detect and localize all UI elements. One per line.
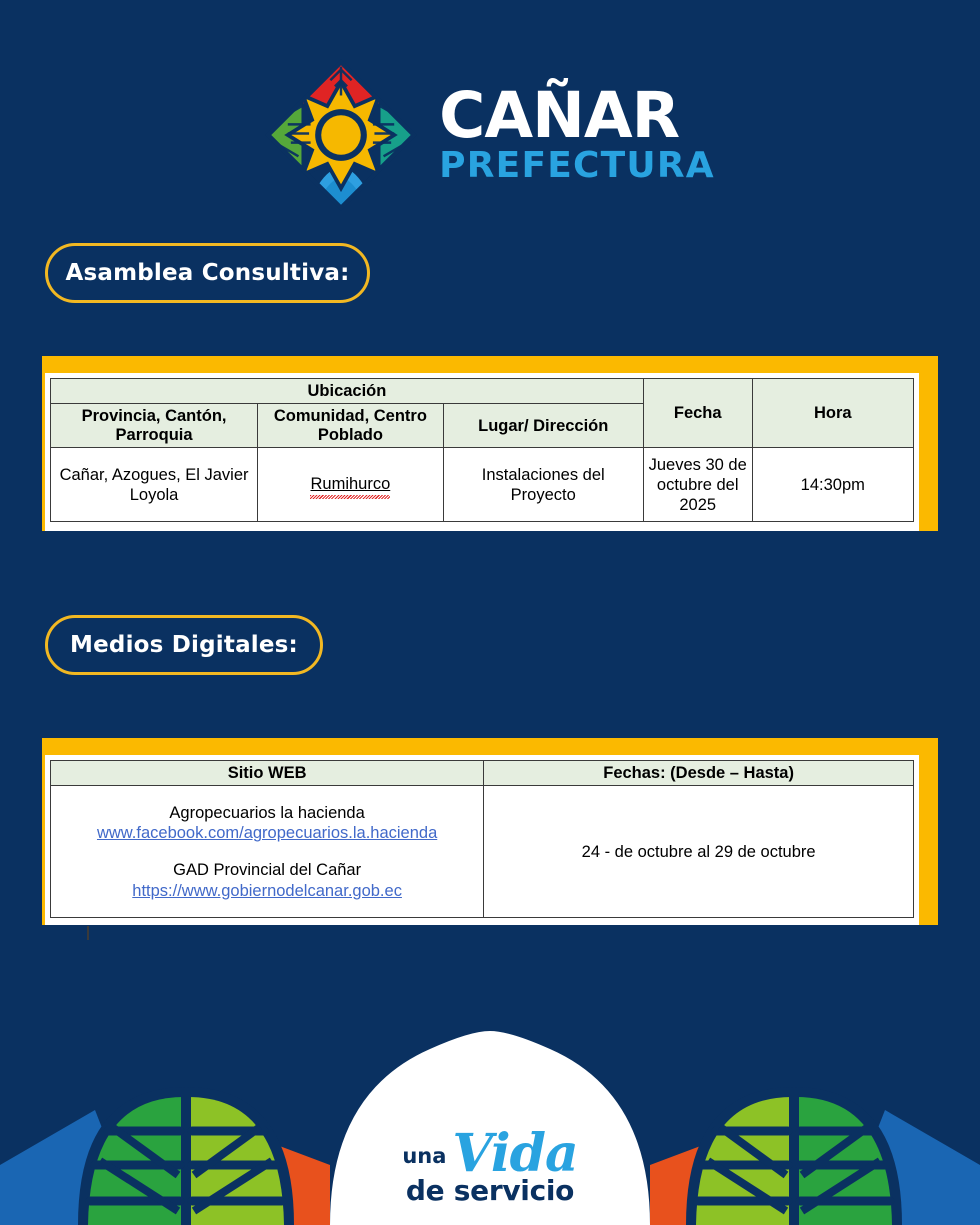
leaf-arch-decoration-icon: una Vida de servicio (0, 1025, 980, 1225)
cell-sitio-web: Agropecuarios la hacienda www.facebook.c… (51, 786, 484, 918)
table-row: Cañar, Azogues, El Javier Loyola Rumihur… (51, 448, 914, 522)
medios-header-sitio-web: Sitio WEB (51, 761, 484, 786)
asamblea-header-comunidad: Comunidad, Centro Poblado (258, 404, 444, 448)
table-caret-mark (87, 926, 89, 940)
table-row: Agropecuarios la hacienda www.facebook.c… (51, 786, 914, 918)
cell-lugar-direccion: Instalaciones del Proyecto (443, 448, 643, 522)
brand-subtitle: PREFECTURA (439, 148, 715, 184)
badge-medios-label: Medios Digitales: (70, 632, 298, 658)
cell-comunidad-value: Rumihurco (310, 474, 390, 495)
asamblea-header-lugar: Lugar/ Dirección (443, 404, 643, 448)
cell-fechas: 24 - de octubre al 29 de octubre (484, 786, 914, 918)
asamblea-header-provincia: Provincia, Cantón, Parroquia (51, 404, 258, 448)
badge-asamblea-label: Asamblea Consultiva: (65, 260, 349, 286)
badge-medios-digitales: Medios Digitales: (45, 615, 323, 675)
badge-asamblea-consultiva: Asamblea Consultiva: (45, 243, 370, 303)
brand-name: CAÑAR (439, 86, 715, 146)
asamblea-table: Ubicación Fecha Hora Provincia, Cantón, … (50, 378, 914, 522)
site-entry-2-name: GAD Provincial del Cañar (55, 860, 479, 880)
asamblea-table-surface: Ubicación Fecha Hora Provincia, Cantón, … (45, 373, 919, 531)
cell-fecha: Jueves 30 de octubre del 2025 (643, 448, 752, 522)
canar-mandala-logo-icon (265, 59, 417, 211)
site-entries-spacer (55, 843, 479, 860)
cell-comunidad-centro-poblado: Rumihurco (258, 448, 444, 522)
medios-table-block: Sitio WEB Fechas: (Desde – Hasta) Agrope… (42, 738, 938, 928)
asamblea-group-header-ubicacion: Ubicación (51, 379, 644, 404)
asamblea-header-hora: Hora (752, 379, 913, 448)
asamblea-header-fecha: Fecha (643, 379, 752, 448)
medios-table-surface: Sitio WEB Fechas: (Desde – Hasta) Agrope… (45, 755, 919, 925)
cell-provincia-canton-parroquia: Cañar, Azogues, El Javier Loyola (51, 448, 258, 522)
site-entry-2-link[interactable]: https://www.gobiernodelcanar.gob.ec (132, 882, 402, 900)
site-entry-1-link[interactable]: www.facebook.com/agropecuarios.la.hacien… (97, 824, 437, 842)
medios-header-row: Sitio WEB Fechas: (Desde – Hasta) (51, 761, 914, 786)
page-header: CAÑAR PREFECTURA (0, 60, 980, 210)
site-entry-1-name: Agropecuarios la hacienda (55, 803, 479, 823)
medios-header-fechas: Fechas: (Desde – Hasta) (484, 761, 914, 786)
cell-hora: 14:30pm (752, 448, 913, 522)
medios-table: Sitio WEB Fechas: (Desde – Hasta) Agrope… (50, 760, 914, 918)
asamblea-group-header-row: Ubicación Fecha Hora (51, 379, 914, 404)
brand-wordmark: CAÑAR PREFECTURA (439, 86, 715, 184)
asamblea-table-block: Ubicación Fecha Hora Provincia, Cantón, … (42, 356, 938, 536)
